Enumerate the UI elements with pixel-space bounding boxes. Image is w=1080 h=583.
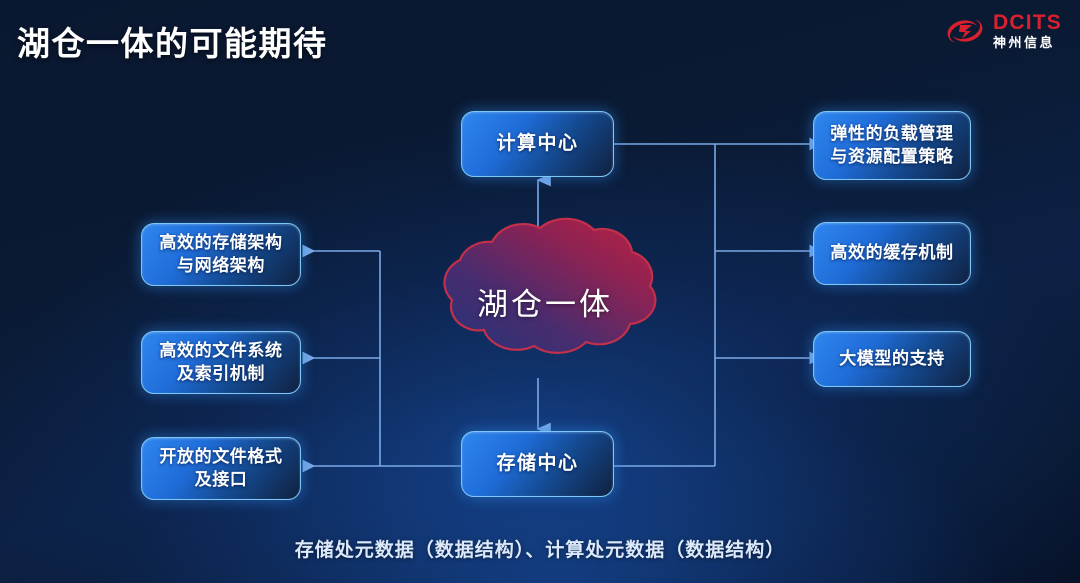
cloud-shape — [400, 212, 690, 390]
node-left-storage-architecture[interactable]: 高效的存储架构与网络架构 — [141, 223, 301, 286]
node-left-file-system[interactable]: 高效的文件系统及索引机制 — [141, 331, 301, 394]
node-right-large-model-support[interactable]: 大模型的支持 — [813, 331, 971, 387]
node-right-workload-management[interactable]: 弹性的负载管理与资源配置策略 — [813, 111, 971, 180]
node-label: 高效的文件系统及索引机制 — [142, 340, 300, 385]
node-label: 高效的缓存机制 — [820, 242, 963, 264]
node-label: 大模型的支持 — [829, 348, 955, 370]
node-label: 开放的文件格式及接口 — [142, 446, 300, 491]
node-left-open-file-format[interactable]: 开放的文件格式及接口 — [141, 437, 301, 500]
node-label: 弹性的负载管理与资源配置策略 — [814, 123, 970, 168]
slide-caption: 存储处元数据（数据结构）、计算处元数据（数据结构） — [0, 535, 1080, 562]
node-label: 高效的存储架构与网络架构 — [142, 232, 300, 277]
node-label: 计算中心 — [486, 131, 588, 156]
node-right-cache-mechanism[interactable]: 高效的缓存机制 — [813, 222, 971, 285]
node-compute-center[interactable]: 计算中心 — [461, 111, 614, 177]
node-storage-center[interactable]: 存储中心 — [461, 431, 614, 497]
node-label: 存储中心 — [486, 451, 588, 476]
slide-canvas: 湖仓一体的可能期待 DCITS 神州信息 — [0, 0, 1080, 583]
